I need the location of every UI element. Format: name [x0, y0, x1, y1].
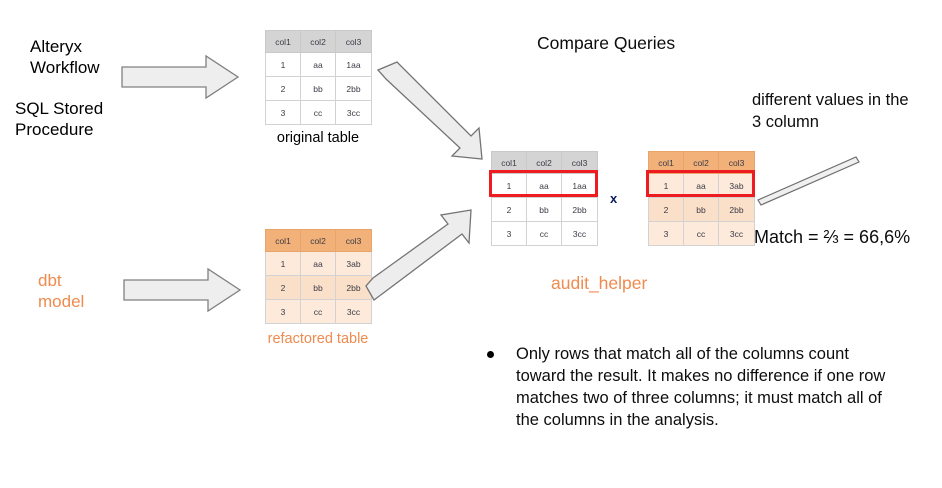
header-cell-col1: col1 [649, 152, 684, 174]
header-cell-col3: col3 [562, 152, 598, 174]
table-row: 1 aa 1aa [266, 53, 372, 77]
header-cell-col2: col2 [527, 152, 562, 174]
cell-r2c2: bb [301, 276, 336, 300]
cell-r2c3: 2bb [336, 77, 372, 101]
header-cell-col2: col2 [301, 230, 336, 252]
header-cell-col1: col1 [266, 230, 301, 252]
source-label-sql-stored-procedure: SQL Stored Procedure [15, 98, 145, 140]
cell-r2c2: bb [527, 198, 562, 222]
caption-audit-helper: audit_helper [551, 272, 647, 294]
cell-r3c1: 3 [266, 300, 301, 324]
cell-r2c1: 2 [266, 77, 301, 101]
cell-r1c1: 1 [492, 174, 527, 198]
cell-r3c2: cc [684, 222, 719, 246]
cell-r1c2: aa [301, 252, 336, 276]
table-row: 1 aa 1aa [492, 174, 598, 198]
cell-r1c1: 1 [649, 174, 684, 198]
table-row: 2 bb 2bb [649, 198, 755, 222]
audit-right-grid: col1 col2 col3 1 aa 3ab 2 bb 2bb 3 cc 3c… [648, 151, 755, 246]
caption-refactored-table: refactored table [243, 330, 393, 348]
diagram-canvas: Alteryx Workflow SQL Stored Procedure db… [0, 0, 942, 488]
annotation-different-values: different values in the 3 column [752, 89, 942, 133]
cell-r3c1: 3 [266, 101, 301, 125]
cell-r2c3: 2bb [562, 198, 598, 222]
header-cell-col3: col3 [719, 152, 755, 174]
cell-r2c1: 2 [492, 198, 527, 222]
cell-r3c3: 3cc [562, 222, 598, 246]
cell-r1c3: 3ab [719, 174, 755, 198]
cell-r2c1: 2 [266, 276, 301, 300]
cell-r2c1: 2 [649, 198, 684, 222]
cell-r3c2: cc [301, 101, 336, 125]
table-row: 2 bb 2bb [266, 276, 372, 300]
table-header-row: col1 col2 col3 [266, 31, 372, 53]
pointer-line-shape [755, 153, 865, 211]
original-table: col1 col2 col3 1 aa 1aa 2 bb 2bb 3 cc 3c… [265, 30, 372, 125]
bullet-note-text: Only rows that match all of the columns … [516, 343, 887, 431]
header-cell-col1: col1 [492, 152, 527, 174]
refactored-table-grid: col1 col2 col3 1 aa 3ab 2 bb 2bb 3 cc 3c… [265, 229, 372, 324]
cell-r2c2: bb [301, 77, 336, 101]
table-row: 3 cc 3cc [266, 101, 372, 125]
header-cell-col2: col2 [301, 31, 336, 53]
cell-r1c3: 1aa [562, 174, 598, 198]
arrow-diagonal-up-right [363, 188, 488, 303]
arrow-right-bottom [122, 266, 242, 314]
cell-r3c3: 3cc [336, 101, 372, 125]
cell-r1c2: aa [301, 53, 336, 77]
header-cell-col2: col2 [684, 152, 719, 174]
cell-r1c2: aa [527, 174, 562, 198]
audit-helper-left-table: col1 col2 col3 1 aa 1aa 2 bb 2bb 3 cc 3c… [491, 151, 598, 246]
cell-r2c2: bb [684, 198, 719, 222]
bullet-list-item: Only rows that match all of the columns … [487, 343, 887, 431]
header-cell-col1: col1 [266, 31, 301, 53]
header-cell-col3: col3 [336, 31, 372, 53]
refactored-table: col1 col2 col3 1 aa 3ab 2 bb 2bb 3 cc 3c… [265, 229, 372, 324]
cell-r3c2: cc [527, 222, 562, 246]
arrow-right-top [120, 53, 240, 101]
table-row: 2 bb 2bb [492, 198, 598, 222]
cell-r1c2: aa [684, 174, 719, 198]
table-row: 1 aa 3ab [266, 252, 372, 276]
cell-r3c1: 3 [492, 222, 527, 246]
table-header-row: col1 col2 col3 [492, 152, 598, 174]
table-row: 2 bb 2bb [266, 77, 372, 101]
audit-helper-right-table: col1 col2 col3 1 aa 3ab 2 bb 2bb 3 cc 3c… [648, 151, 755, 246]
match-result: Match = ⅔ = 66,6% [754, 226, 910, 248]
cell-r3c3: 3cc [336, 300, 372, 324]
table-row: 3 cc 3cc [649, 222, 755, 246]
bullet-marker-icon [487, 351, 494, 358]
table-header-row: col1 col2 col3 [266, 230, 372, 252]
comparison-operator: x [610, 191, 617, 206]
table-row: 3 cc 3cc [492, 222, 598, 246]
original-table-grid: col1 col2 col3 1 aa 1aa 2 bb 2bb 3 cc 3c… [265, 30, 372, 125]
table-row: 3 cc 3cc [266, 300, 372, 324]
cell-r1c1: 1 [266, 53, 301, 77]
audit-left-grid: col1 col2 col3 1 aa 1aa 2 bb 2bb 3 cc 3c… [491, 151, 598, 246]
cell-r1c1: 1 [266, 252, 301, 276]
cell-r3c2: cc [301, 300, 336, 324]
table-header-row: col1 col2 col3 [649, 152, 755, 174]
cell-r2c3: 2bb [719, 198, 755, 222]
cell-r1c3: 1aa [336, 53, 372, 77]
arrow-diagonal-down-right [375, 60, 495, 165]
cell-r3c3: 3cc [719, 222, 755, 246]
cell-r3c1: 3 [649, 222, 684, 246]
caption-original-table: original table [248, 129, 388, 147]
table-row: 1 aa 3ab [649, 174, 755, 198]
page-title: Compare Queries [537, 32, 675, 54]
